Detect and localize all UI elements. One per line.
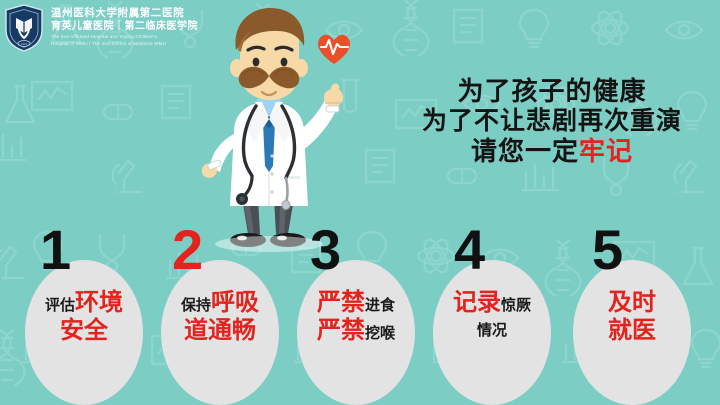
logo-chinese-line-1: 温州医科大学附属第二医院: [51, 7, 198, 20]
advice-text-line: 保持呼吸: [150, 290, 290, 318]
advice-text: 评估环境安全: [14, 290, 154, 346]
advice-text-line: 严禁进食: [286, 290, 426, 318]
advice-text: 及时就医: [562, 290, 702, 346]
advice-items-row: 1评估环境安全2保持呼吸道通畅3严禁进食严禁挖喉4记录惊厥情况5及时就医: [0, 228, 720, 405]
advice-text-segment: 情况: [477, 322, 507, 339]
advice-text-line: 情况: [422, 318, 562, 343]
advice-text-segment: 安全: [60, 317, 108, 344]
advice-text: 保持呼吸道通畅: [150, 290, 290, 346]
headline-line-3-emphasis: 牢记: [579, 136, 633, 166]
svg-text:1919: 1919: [21, 42, 28, 46]
advice-number: 5: [592, 222, 623, 278]
advice-text-line: 及时: [562, 290, 702, 318]
advice-text-line: 就医: [562, 318, 702, 346]
advice-item-1[interactable]: 1评估环境安全: [14, 228, 154, 405]
hospital-shield-icon: 1919: [4, 4, 44, 52]
advice-text-segment: 保持: [181, 297, 211, 314]
advice-text: 记录惊厥情况: [422, 290, 562, 343]
advice-number: 1: [40, 222, 71, 278]
advice-item-3[interactable]: 3严禁进食严禁挖喉: [286, 228, 426, 405]
advice-text-segment: 惊厥: [501, 297, 531, 314]
headline-line-1: 为了孩子的健康: [402, 76, 702, 106]
advice-text-segment: 挖喉: [365, 325, 395, 342]
advice-text-segment: 评估: [45, 297, 75, 314]
advice-text-line: 道通畅: [150, 318, 290, 346]
advice-text-segment: 道通畅: [184, 317, 256, 344]
advice-item-4[interactable]: 4记录惊厥情况: [422, 228, 562, 405]
headline-line-3-plain: 请您一定: [471, 136, 579, 166]
headline-line-3: 请您一定牢记: [402, 136, 702, 166]
advice-item-5[interactable]: 5及时就医: [562, 228, 702, 405]
logo-english-line-1: The 2nd Affiliated Hospital and Yuying C…: [51, 34, 198, 40]
advice-text-segment: 严禁: [317, 317, 365, 344]
advice-number: 2: [172, 222, 203, 278]
advice-text-segment: 进食: [365, 297, 395, 314]
advice-text-segment: 环境: [75, 289, 123, 316]
advice-text-line: 评估环境: [14, 290, 154, 318]
advice-text-segment: 记录: [453, 289, 501, 316]
advice-number: 4: [454, 222, 485, 278]
advice-text-segment: 就医: [608, 317, 656, 344]
headline-line-2: 为了不让悲剧再次重演: [402, 106, 702, 136]
advice-text-line: 记录惊厥: [422, 290, 562, 318]
advice-text-line: 安全: [14, 318, 154, 346]
advice-text-segment: 严禁: [317, 289, 365, 316]
advice-text-segment: 呼吸: [211, 289, 259, 316]
logo-chinese-line-2: 育英儿童医院｜第二临床医学院: [51, 20, 198, 33]
headline-block: 为了孩子的健康 为了不让悲剧再次重演 请您一定牢记: [402, 76, 702, 166]
advice-number: 3: [310, 222, 341, 278]
hospital-logo: 1919 温州医科大学附属第二医院 育英儿童医院｜第二临床医学院 The 2nd…: [4, 4, 198, 52]
logo-english-line-2: Hospital of WMU / The 2nd School of Medi…: [51, 41, 198, 47]
advice-text-line: 严禁挖喉: [286, 318, 426, 346]
advice-item-2[interactable]: 2保持呼吸道通畅: [150, 228, 290, 405]
advice-text: 严禁进食严禁挖喉: [286, 290, 426, 346]
health-poster: 1919 温州医科大学附属第二医院 育英儿童医院｜第二临床医学院 The 2nd…: [0, 0, 720, 405]
advice-text-segment: 及时: [608, 289, 656, 316]
